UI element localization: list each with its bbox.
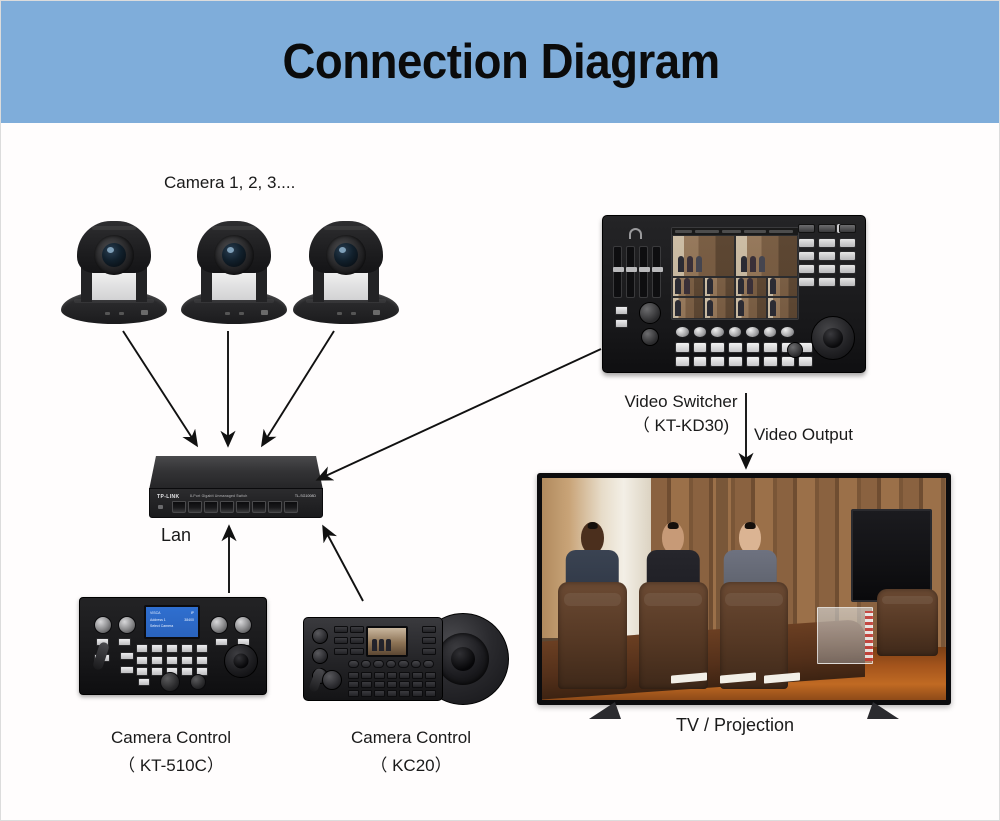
cameras-label: Camera 1, 2, 3.... <box>164 171 295 196</box>
kc20-key <box>374 690 385 697</box>
page-title: Connection Diagram <box>282 34 719 90</box>
kc20-key <box>374 672 385 679</box>
tv-bezel <box>537 473 951 705</box>
keypad-6 <box>136 667 148 676</box>
multiview-source-thumb <box>735 297 767 319</box>
status-chip <box>722 230 741 233</box>
rj45-port <box>220 501 234 513</box>
transition-knob <box>763 326 778 338</box>
kc20-key <box>374 681 385 688</box>
status-chip <box>769 230 793 233</box>
kc20-keypad <box>348 672 436 697</box>
kc20-key <box>361 681 372 688</box>
rj45-port <box>284 501 298 513</box>
pane-people <box>741 256 765 272</box>
keypad-key <box>839 251 856 261</box>
controller-menu-button <box>138 678 150 686</box>
kc20-key <box>348 681 359 688</box>
tv-label: TV / Projection <box>676 712 794 738</box>
kc20-key <box>399 672 410 679</box>
kc20-key <box>348 672 359 679</box>
switcher-tbar-knob <box>639 302 661 324</box>
video-output-label: Video Output <box>754 423 853 448</box>
status-chip <box>675 230 692 233</box>
kc20-knob-2 <box>312 648 328 664</box>
multiview-source-thumb <box>767 297 799 319</box>
switcher-function-button-row <box>798 224 856 233</box>
bus-button <box>763 342 778 353</box>
lcd-scene-people <box>372 639 391 651</box>
keypad-key <box>839 277 856 287</box>
arrow-kc20-to-lan <box>324 528 363 601</box>
fader <box>652 246 661 298</box>
tp-link-logo: TP-LINK <box>157 494 180 500</box>
camera-port-icon <box>373 310 380 315</box>
scene-chair-1 <box>558 582 627 689</box>
rj45-port <box>268 501 282 513</box>
keypad-key <box>818 264 835 274</box>
tv-screen <box>542 478 946 700</box>
kc20-key <box>348 690 359 697</box>
keypad-2 <box>151 656 163 665</box>
multiview-program-preview-row <box>672 235 798 277</box>
connection-diagram-page: Connection Diagram Camera 1, 2, 3.... <box>0 0 1000 821</box>
multiview-source-thumb <box>735 277 767 297</box>
kc20-joystick <box>437 633 489 685</box>
kc20-lcd-preview <box>366 626 408 657</box>
camera-port-icon <box>141 310 148 315</box>
keypad-key <box>818 238 835 248</box>
multiview-source-row-2 <box>672 297 798 319</box>
switcher-function-button <box>818 224 835 233</box>
kc20-button <box>334 626 348 633</box>
kc20-key <box>412 681 423 688</box>
keypad-key <box>798 264 815 274</box>
bus-button <box>728 342 743 353</box>
controller-knob-focus <box>118 616 136 634</box>
controller-knob-pan <box>210 616 228 634</box>
transition-knob <box>710 326 725 338</box>
lcd-line-2: Address 1 <box>150 617 166 624</box>
kc20-button <box>334 637 348 644</box>
keypad-1 <box>136 656 148 665</box>
keypad-key <box>798 251 815 261</box>
keypad-3 <box>166 656 178 665</box>
person-hair <box>668 522 679 529</box>
transition-knob <box>745 326 760 338</box>
keypad-cam3 <box>166 644 178 653</box>
ptz-camera-3 <box>291 219 401 324</box>
control-1-model-label: （ KT-510C） <box>96 754 246 779</box>
keypad-cam5 <box>196 644 208 653</box>
camera-led-icon <box>105 312 110 315</box>
kc20-key <box>361 672 372 679</box>
switcher-multiview-screen <box>671 227 799 320</box>
multiview-source-row-1 <box>672 277 798 297</box>
controller-knob-tilt <box>234 616 252 634</box>
bus-button <box>763 356 778 367</box>
kc20-camera-select-row <box>348 660 434 668</box>
kc20-jog-dial <box>322 670 342 690</box>
kc20-key <box>399 690 410 697</box>
tv-stand-left <box>589 702 621 719</box>
bus-button <box>746 342 761 353</box>
control-2-label: Camera Control <box>336 726 486 751</box>
rj45-port <box>204 501 218 513</box>
lan-label: Lan <box>161 522 191 548</box>
transition-knob <box>693 326 708 338</box>
person-hair <box>745 522 756 529</box>
switcher-dsk-button <box>615 319 628 328</box>
lcd-line-3: Select Camera <box>150 623 173 630</box>
ptz-camera-2 <box>179 219 289 324</box>
kc20-button <box>350 626 364 633</box>
conference-room-scene <box>542 478 946 700</box>
switcher-label: Video Switcher <box>601 390 761 415</box>
controller-lcd-screen: VISCAIP Address 138400 Select Camera <box>144 605 200 639</box>
switcher-speed-knob <box>787 342 803 358</box>
status-chip <box>695 230 719 233</box>
controller-set-button <box>120 652 134 660</box>
rj45-port-bank <box>172 501 298 513</box>
keypad-key <box>818 251 835 261</box>
kc20-button <box>350 637 364 644</box>
keypad-key <box>798 238 815 248</box>
camera-led-icon <box>225 312 230 315</box>
rj45-port <box>172 501 186 513</box>
transition-knob <box>780 326 795 338</box>
switch-chassis-top <box>149 456 323 490</box>
camera-lens-ring <box>326 235 366 275</box>
rj45-port <box>252 501 266 513</box>
lcd-line-1: VISCA <box>150 610 161 617</box>
kc20-cam-button <box>411 660 422 668</box>
control-2-model-label: （ KC20） <box>336 754 486 779</box>
kc20-button <box>334 648 348 655</box>
switcher-joystick <box>811 316 855 360</box>
kc20-key <box>361 690 372 697</box>
kc20-key <box>387 672 398 679</box>
kc20-key <box>399 681 410 688</box>
header-band: Connection Diagram <box>1 1 1000 123</box>
rj45-port <box>236 501 250 513</box>
kc20-button <box>350 648 364 655</box>
keypad-5 <box>196 656 208 665</box>
bus-button <box>693 356 708 367</box>
multiview-status-bar <box>672 228 798 235</box>
switcher-transition-knob-row <box>675 326 795 338</box>
kc20-key <box>425 690 436 697</box>
kc20-cam-button <box>386 660 397 668</box>
camera-head <box>197 221 271 273</box>
fader <box>613 246 622 298</box>
arrow-camera1-to-lan <box>123 331 196 444</box>
keypad-4 <box>181 656 193 665</box>
bus-button <box>675 356 690 367</box>
multiview-source-thumb <box>704 277 736 297</box>
bus-button <box>798 356 813 367</box>
camera-lens-icon <box>334 243 358 267</box>
video-switcher-device <box>602 215 866 373</box>
switcher-preset-keypad <box>798 238 856 287</box>
camera-lens-icon <box>222 243 246 267</box>
bus-button <box>728 356 743 367</box>
kc20-button <box>422 637 436 644</box>
control-1-label: Camera Control <box>96 726 246 751</box>
keypad-key <box>839 238 856 248</box>
keypad-9 <box>181 667 193 676</box>
kc20-cam-button <box>348 660 359 668</box>
camera-head <box>77 221 151 273</box>
camera-lens-icon <box>102 243 126 267</box>
multiview-source-thumb <box>704 297 736 319</box>
camera-lens-ring <box>94 235 134 275</box>
pane-people <box>678 256 702 272</box>
camera-led-icon <box>119 312 124 315</box>
bus-button <box>675 342 690 353</box>
controller-preset-button <box>120 666 134 674</box>
camera-lens-ring <box>214 235 254 275</box>
audio-fader-bank <box>613 246 661 298</box>
fader <box>639 246 648 298</box>
status-chip <box>744 230 766 233</box>
bus-button <box>710 342 725 353</box>
arrow-switcher-to-lan <box>319 349 601 479</box>
fader <box>626 246 635 298</box>
multiview-source-thumb <box>767 277 799 297</box>
switch-model-text: 8-Port Gigabit Unmanaged Switch <box>190 494 247 498</box>
scene-side-chair <box>877 589 938 656</box>
camera-led-icon <box>239 312 244 315</box>
switcher-model-label: （ KT-KD30) <box>601 414 761 439</box>
keypad-key <box>798 277 815 287</box>
person-hair <box>587 522 598 529</box>
arrow-camera3-to-lan <box>263 331 334 444</box>
tv-stand-right <box>867 702 899 719</box>
kc20-key <box>412 690 423 697</box>
bus-button <box>710 356 725 367</box>
camera-control-kc20-device <box>303 613 509 705</box>
lcd-right-1: IP <box>191 610 194 617</box>
kc20-key <box>425 672 436 679</box>
kc20-button <box>422 626 436 633</box>
keypad-key <box>818 277 835 287</box>
controller-focus-dial <box>190 674 206 690</box>
kc20-cam-button <box>398 660 409 668</box>
multiview-preview-pane <box>672 235 735 277</box>
bus-button <box>693 342 708 353</box>
power-led-icon <box>158 505 163 509</box>
kc20-knob-1 <box>312 628 328 644</box>
kc20-key <box>387 681 398 688</box>
scene-glass-box <box>817 607 874 665</box>
camera-control-kt510c-device: VISCAIP Address 138400 Select Camera <box>79 597 267 695</box>
controller-button <box>118 638 131 646</box>
camera-led-icon <box>337 312 342 315</box>
kc20-cam-button <box>361 660 372 668</box>
headphone-icon <box>629 228 642 239</box>
kc20-key <box>387 690 398 697</box>
ptz-camera-1 <box>59 219 169 324</box>
kc20-key <box>412 672 423 679</box>
keypad-cam1 <box>136 644 148 653</box>
keypad-cam2 <box>151 644 163 653</box>
controller-joystick <box>224 644 258 678</box>
camera-port-icon <box>261 310 268 315</box>
bus-button <box>746 356 761 367</box>
tv-display-device <box>537 473 951 721</box>
switcher-menu-knob <box>641 328 659 346</box>
switcher-function-button <box>798 224 815 233</box>
kc20-cam-button <box>423 660 434 668</box>
transition-knob <box>675 326 690 338</box>
multiview-program-pane <box>735 235 798 277</box>
keypad-key <box>839 264 856 274</box>
kc20-body <box>303 617 443 701</box>
rj45-port <box>188 501 202 513</box>
lcd-right-2: 38400 <box>184 617 194 624</box>
switcher-function-button <box>839 224 856 233</box>
kc20-button <box>422 648 436 655</box>
camera-led-icon <box>351 312 356 315</box>
multiview-source-thumb <box>672 297 704 319</box>
switch-front-panel: TP-LINK 8-Port Gigabit Unmanaged Switch … <box>149 488 323 518</box>
controller-knob-iris <box>94 616 112 634</box>
controller-button <box>215 638 228 646</box>
camera-head <box>309 221 383 273</box>
switcher-aux-button <box>615 306 628 315</box>
keypad-cam4 <box>181 644 193 653</box>
lan-switch-device: TP-LINK 8-Port Gigabit Unmanaged Switch … <box>149 456 323 520</box>
kc20-key <box>425 681 436 688</box>
controller-speed-dial <box>160 672 180 692</box>
transition-knob <box>728 326 743 338</box>
kc20-cam-button <box>373 660 384 668</box>
multiview-source-thumb <box>672 277 704 297</box>
switch-sku-text: TL-SG1008D <box>295 494 316 498</box>
controller-numeric-keypad <box>136 644 208 676</box>
